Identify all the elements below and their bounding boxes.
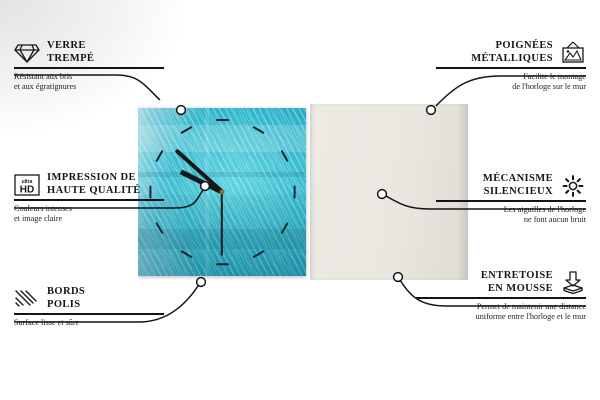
clock-marker [180,250,192,258]
clock-marker [180,125,192,133]
callout-title-line1: VERRE [47,40,94,53]
callout-title-line2: EN MOUSSE [416,283,553,296]
callout-title-line2: SILENCIEUX [436,186,553,199]
picture-hanger-icon [560,41,586,65]
callout-desc-line1: Résistant aux bris [14,72,164,82]
clock-marker [252,125,264,133]
product-photo [138,104,468,280]
callout-rule [14,67,164,69]
callout-bords-polis: BORDS POLIS Surface lisse et sûre [14,286,164,328]
callout-header: BORDS POLIS [14,286,164,311]
callout-title-line1: MÉCANISME [436,173,553,186]
callout-desc-line2: ne font aucun bruit [436,215,586,225]
callout-entretoise-en-mousse: ENTRETOISE EN MOUSSE Permet de maintenir… [416,270,586,322]
callout-desc-line2: et image claire [14,214,164,224]
callout-desc-line1: Surface lisse et sûre [14,318,164,328]
callout-title-line2: MÉTALLIQUES [436,53,553,66]
gear-icon [560,174,586,198]
callout-title-line1: BORDS [47,286,85,299]
callout-rule [14,199,164,201]
callout-desc-line1: Facilite le montage [436,72,586,82]
callout-verre-trempe: VERRE TREMPÉ Résistant aux bris et aux é… [14,40,164,92]
ultra-hd-badge-icon: ultra HD [14,173,40,197]
callout-desc-line2: et aux égratignures [14,82,164,92]
callout-impression-haute-qualite: ultra HD IMPRESSION DE HAUTE QUALITÉ Cou… [14,172,164,224]
glass-band-vertical [205,108,209,276]
callout-desc-line1: Permet de maintenir une distance [416,302,586,312]
callout-rule [14,313,164,315]
callout-mecanisme-silencieux: MÉCANISME SILENCIEUX Les aiguilles de l'… [436,173,586,225]
infographic-canvas: VERRE TREMPÉ Résistant aux bris et aux é… [0,0,600,400]
callout-title-line2: TREMPÉ [47,53,94,66]
callout-header: POIGNÉES MÉTALLIQUES [436,40,586,65]
callout-title-line1: ENTRETOISE [416,270,553,283]
glass-band [138,229,306,249]
callout-poignees-metalliques: POIGNÉES MÉTALLIQUES Facilite le montage… [436,40,586,92]
clock-marker [280,222,288,234]
callout-rule [436,200,586,202]
callout-header: ENTRETOISE EN MOUSSE [416,270,586,295]
callout-header: MÉCANISME SILENCIEUX [436,173,586,198]
second-hand [221,192,223,256]
clock-hub [220,190,225,195]
callout-desc-line2: uniforme entre l'horloge et le mur [416,312,586,322]
glass-band [138,125,306,152]
clock-marker [293,185,295,198]
polished-edge-lines-icon [14,288,40,310]
callout-header: VERRE TREMPÉ [14,40,164,65]
callout-header: ultra HD IMPRESSION DE HAUTE QUALITÉ [14,172,164,197]
diamond-icon [14,42,40,64]
callout-desc-line1: Couleurs intenses [14,204,164,214]
callout-title-line1: POIGNÉES [436,40,553,53]
callout-desc-line2: de l'horloge sur le mur [436,82,586,92]
clock-marker [155,150,163,162]
callout-rule [416,297,586,299]
clock-marker [252,250,264,258]
callout-desc-line1: Les aiguilles de l'horloge [436,205,586,215]
callout-title-line2: HAUTE QUALITÉ [47,185,141,198]
hd-label: HD [20,184,34,195]
clock-marker [216,119,229,121]
callout-rule [436,67,586,69]
callout-title-line1: IMPRESSION DE [47,172,141,185]
callout-title-line2: POLIS [47,299,85,312]
clock-marker [216,263,229,265]
clock-marker [280,150,288,162]
foam-spacer-arrow-icon [560,271,586,295]
